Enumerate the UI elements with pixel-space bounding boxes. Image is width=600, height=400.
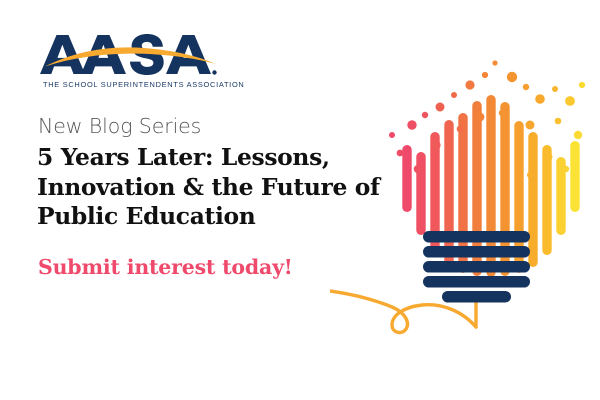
aasa-logo-tagline: THE SCHOOL SUPERINTENDENTS ASSOCIATION — [43, 80, 244, 89]
bulb-dot — [527, 172, 533, 178]
bulb-bar — [416, 152, 425, 235]
aasa-wordmark-mark — [40, 33, 218, 77]
base-bar — [423, 246, 530, 258]
bulb-dot — [457, 126, 464, 133]
bulb-dot — [447, 156, 453, 162]
bulb-dot — [574, 131, 582, 139]
bulb-dot — [555, 118, 562, 125]
bulb-dot — [565, 96, 575, 106]
bulb-dot — [535, 94, 545, 104]
aasa-logo-svg — [40, 33, 218, 77]
bulb-dot — [422, 112, 428, 118]
lightbulb-illustration — [330, 55, 600, 355]
bulb-dot — [579, 82, 585, 88]
bulb-bar — [402, 145, 411, 212]
bulb-dot — [492, 60, 497, 65]
bulb-dot — [526, 121, 535, 130]
base-bar — [423, 231, 530, 243]
bulb-dot — [523, 84, 529, 90]
bulb-bar — [528, 132, 537, 267]
bulb-dot — [476, 113, 485, 122]
bulb-dot — [407, 120, 416, 129]
base-bar — [423, 276, 530, 288]
lightbulb-svg — [330, 55, 600, 355]
bulb-bar — [570, 141, 579, 212]
bulb-dot — [451, 92, 457, 98]
bulb-bar — [542, 145, 551, 255]
promo-card: THE SCHOOL SUPERINTENDENTS ASSOCIATION N… — [0, 0, 600, 400]
bulb-dot — [431, 140, 440, 149]
bulb-dot — [517, 144, 524, 151]
bulb-dot — [436, 103, 445, 112]
registered-mark-icon — [212, 70, 216, 74]
bulb-dot — [507, 72, 517, 82]
bulb-dot — [465, 80, 474, 89]
bulb-dot — [397, 150, 404, 157]
bulb-bar — [444, 120, 453, 267]
eyebrow-text: New Blog Series — [38, 114, 201, 138]
bulb-dot — [499, 110, 505, 116]
bulb-dot — [414, 165, 423, 174]
bulb-dot — [389, 132, 395, 138]
bulb-dot — [544, 153, 553, 162]
aasa-logo[interactable]: THE SCHOOL SUPERINTENDENTS ASSOCIATION — [40, 33, 225, 93]
bulb-dot — [482, 72, 488, 78]
base-bar — [442, 291, 511, 303]
bulb-dot — [563, 166, 569, 172]
bulb-base — [423, 231, 530, 303]
bulb-dot — [552, 86, 558, 92]
base-bar — [423, 261, 530, 273]
submit-interest-cta[interactable]: Submit interest today! — [38, 255, 293, 279]
